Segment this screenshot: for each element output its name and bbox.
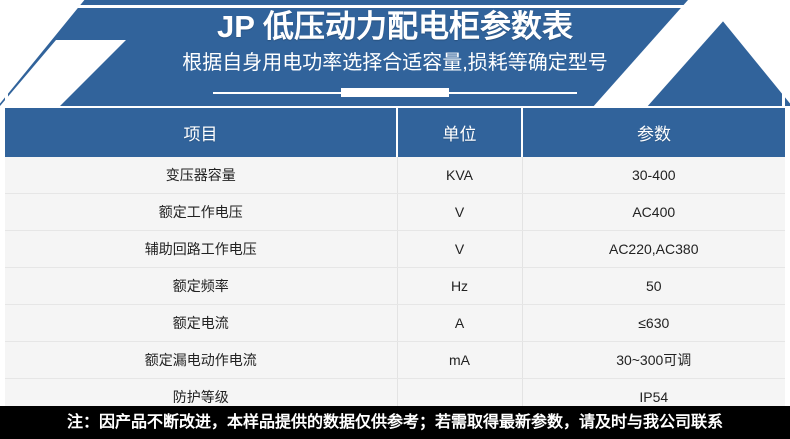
column-header-value: 参数 bbox=[522, 108, 785, 157]
cell-item: 额定工作电压 bbox=[5, 194, 397, 231]
spec-table: 项目 单位 参数 变压器容量 KVA 30-400 额定工作电压 V AC400… bbox=[5, 108, 785, 415]
cell-value: AC220,AC380 bbox=[522, 231, 785, 268]
banner-text-block: JP 低压动力配电柜参数表 根据自身用电功率选择合适容量,损耗等确定型号 bbox=[0, 0, 790, 106]
spec-table-container: 项目 单位 参数 变压器容量 KVA 30-400 额定工作电压 V AC400… bbox=[5, 108, 785, 415]
cell-unit: Hz bbox=[397, 268, 522, 305]
table-header-row: 项目 单位 参数 bbox=[5, 108, 785, 157]
spec-table-header: 项目 单位 参数 bbox=[5, 108, 785, 157]
cell-item: 变压器容量 bbox=[5, 157, 397, 194]
table-row: 额定电流 A ≤630 bbox=[5, 305, 785, 342]
spec-table-body: 变压器容量 KVA 30-400 额定工作电压 V AC400 辅助回路工作电压… bbox=[5, 157, 785, 415]
cell-item: 辅助回路工作电压 bbox=[5, 231, 397, 268]
cell-item: 额定频率 bbox=[5, 268, 397, 305]
table-row: 辅助回路工作电压 V AC220,AC380 bbox=[5, 231, 785, 268]
page-title: JP 低压动力配电柜参数表 bbox=[0, 0, 790, 46]
cell-item: 额定漏电动作电流 bbox=[5, 342, 397, 379]
table-row: 额定频率 Hz 50 bbox=[5, 268, 785, 305]
footer-disclaimer-note: 注：因产品不断改进，本样品提供的数据仅供参考；若需取得最新参数，请及时与我公司联… bbox=[0, 406, 790, 439]
cell-value: 30~300可调 bbox=[522, 342, 785, 379]
column-header-item: 项目 bbox=[5, 108, 397, 157]
table-row: 额定工作电压 V AC400 bbox=[5, 194, 785, 231]
cell-item: 额定电流 bbox=[5, 305, 397, 342]
cell-unit: KVA bbox=[397, 157, 522, 194]
cell-unit: mA bbox=[397, 342, 522, 379]
cell-value: 50 bbox=[522, 268, 785, 305]
table-row: 额定漏电动作电流 mA 30~300可调 bbox=[5, 342, 785, 379]
cell-unit: V bbox=[397, 231, 522, 268]
page-subtitle: 根据自身用电功率选择合适容量,损耗等确定型号 bbox=[0, 46, 790, 76]
cell-value: 30-400 bbox=[522, 157, 785, 194]
table-row: 变压器容量 KVA 30-400 bbox=[5, 157, 785, 194]
cell-unit: V bbox=[397, 194, 522, 231]
banner-header: JP 低压动力配电柜参数表 根据自身用电功率选择合适容量,损耗等确定型号 bbox=[0, 0, 790, 106]
column-header-unit: 单位 bbox=[397, 108, 522, 157]
cell-unit: A bbox=[397, 305, 522, 342]
cell-value: AC400 bbox=[522, 194, 785, 231]
cell-value: ≤630 bbox=[522, 305, 785, 342]
spec-sheet-page: JP 低压动力配电柜参数表 根据自身用电功率选择合适容量,损耗等确定型号 项目 … bbox=[0, 0, 790, 439]
